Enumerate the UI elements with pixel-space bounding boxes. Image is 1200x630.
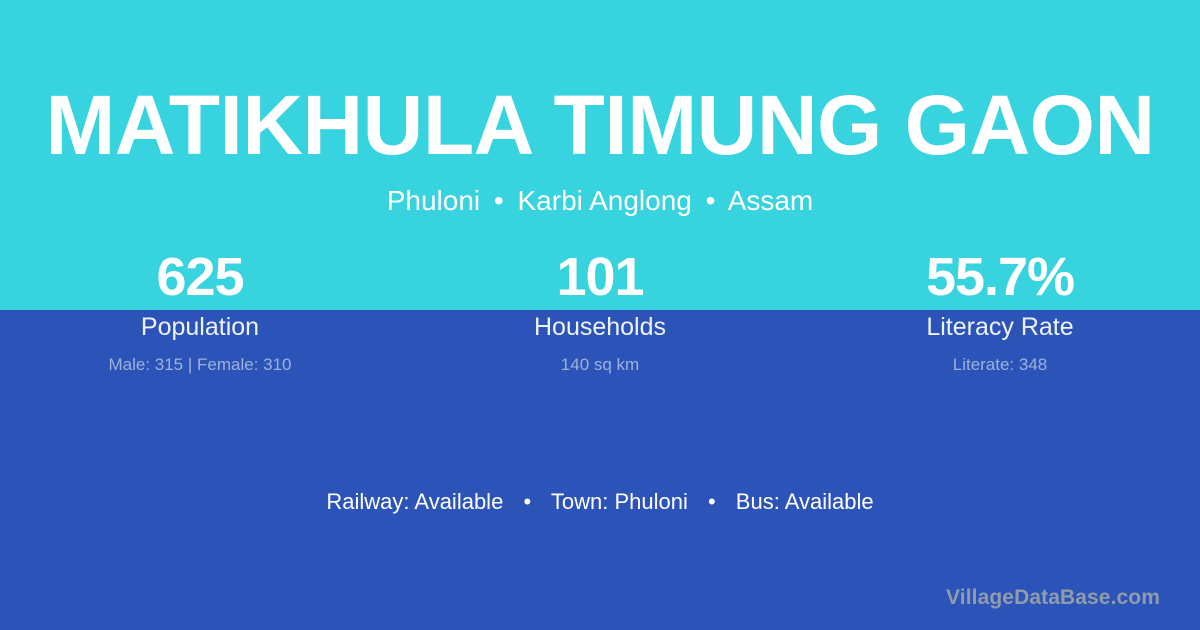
- stat-detail-households: 140 sq km: [400, 353, 800, 377]
- facilities-row: Railway: Available • Town: Phuloni • Bus…: [0, 487, 1200, 517]
- breadcrumb-item-block: Phuloni: [387, 185, 480, 216]
- page-title: MATIKHULA TIMUNG GAON: [0, 83, 1200, 167]
- stat-block-literacy-rate: 55.7% Literacy Rate Literate: 348: [800, 246, 1200, 377]
- bullet-separator-icon: •: [509, 489, 545, 514]
- facility-town: Town: Phuloni: [551, 489, 688, 514]
- stat-detail-literacy-rate: Literate: 348: [800, 353, 1200, 377]
- breadcrumb-item-state: Assam: [728, 185, 814, 216]
- stat-block-households: 101 Households 140 sq km: [400, 246, 800, 377]
- stat-label-literacy-rate: Literacy Rate: [800, 310, 1200, 344]
- stat-label-population: Population: [0, 310, 400, 344]
- bullet-separator-icon: •: [700, 185, 722, 216]
- village-info-card: MATIKHULA TIMUNG GAON Phuloni • Karbi An…: [0, 0, 1200, 630]
- bullet-separator-icon: •: [694, 489, 730, 514]
- facility-bus: Bus: Available: [736, 489, 874, 514]
- breadcrumb-item-district: Karbi Anglong: [518, 185, 692, 216]
- bullet-separator-icon: •: [488, 185, 510, 216]
- stats-row: 625 Population Male: 315 | Female: 310 1…: [0, 246, 1200, 377]
- stat-block-population: 625 Population Male: 315 | Female: 310: [0, 246, 400, 377]
- stat-value-households: 101: [400, 246, 800, 308]
- stat-label-households: Households: [400, 310, 800, 344]
- breadcrumb: Phuloni • Karbi Anglong • Assam: [0, 183, 1200, 218]
- site-brand-watermark: VillageDataBase.com: [946, 584, 1160, 612]
- facility-railway: Railway: Available: [326, 489, 503, 514]
- stat-detail-population: Male: 315 | Female: 310: [0, 353, 400, 377]
- stat-value-population: 625: [0, 246, 400, 308]
- stat-value-literacy-rate: 55.7%: [800, 246, 1200, 308]
